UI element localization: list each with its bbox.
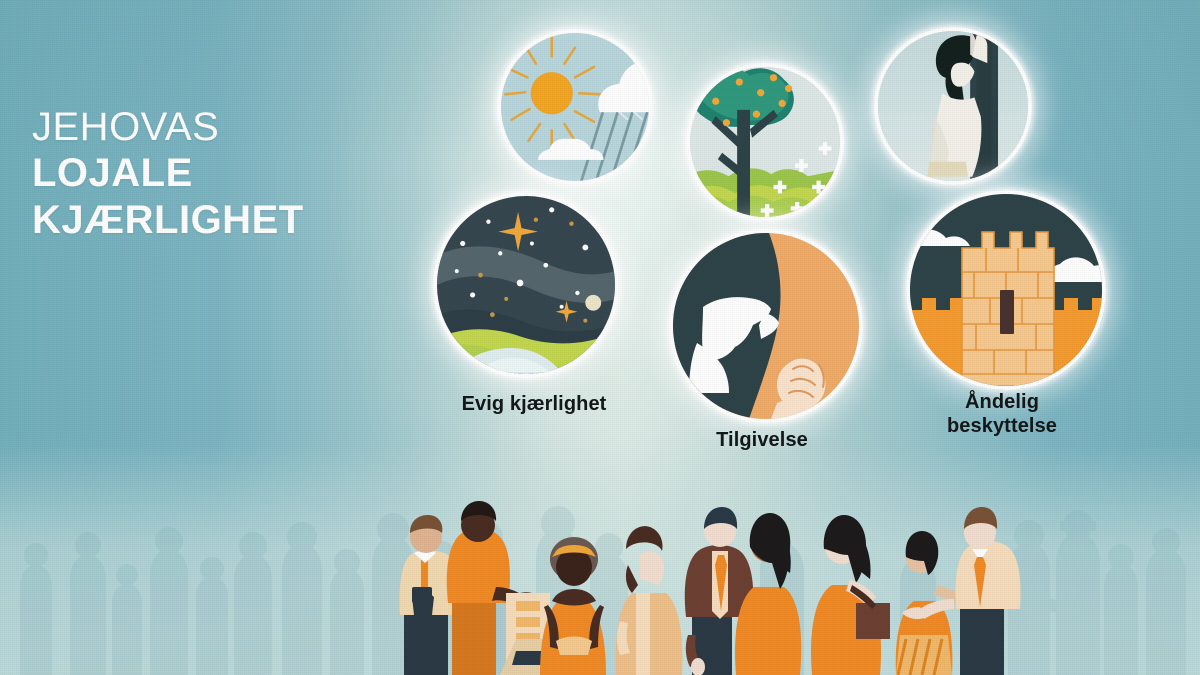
- circle-man-at-stake[interactable]: [874, 27, 1032, 185]
- starry-night-landscape-icon: [437, 196, 615, 374]
- title-line-1: JEHOVAS: [32, 104, 304, 150]
- foreground-crowd: [0, 475, 1200, 675]
- bowed-head-hand-icon: [673, 233, 859, 419]
- fruit-tree-icon: [690, 67, 840, 217]
- circle-sun-rain[interactable]: [497, 29, 653, 185]
- title-line-3: KJÆRLIGHET: [32, 197, 304, 243]
- person-with-bag: [811, 515, 890, 675]
- label-evig-kjaerlighet: Evig kjærlighet: [444, 392, 624, 416]
- circle-fruit-tree[interactable]: [686, 63, 844, 221]
- label-aandelig-beskyttelse: Åndelig beskyttelse: [912, 390, 1092, 439]
- sun-rain-clouds-icon: [501, 33, 649, 181]
- stone-tower-fortress-icon: [910, 194, 1102, 386]
- page-title: JEHOVAS LOJALE KJÆRLIGHET: [32, 104, 304, 243]
- label-aandelig-line-1: Åndelig: [912, 390, 1092, 414]
- circle-forgiveness[interactable]: [669, 229, 863, 423]
- title-line-2: LOJALE: [32, 150, 304, 196]
- circle-starry-night[interactable]: [433, 192, 619, 378]
- label-tilgivelse: Tilgivelse: [672, 428, 852, 452]
- man-at-stake-icon: [878, 31, 1028, 181]
- poster-canvas: JEHOVAS LOJALE KJÆRLIGHET: [0, 0, 1200, 675]
- label-aandelig-line-2: beskyttelse: [912, 414, 1092, 438]
- circle-tower[interactable]: [906, 190, 1106, 390]
- person-cream-coat: [616, 526, 683, 675]
